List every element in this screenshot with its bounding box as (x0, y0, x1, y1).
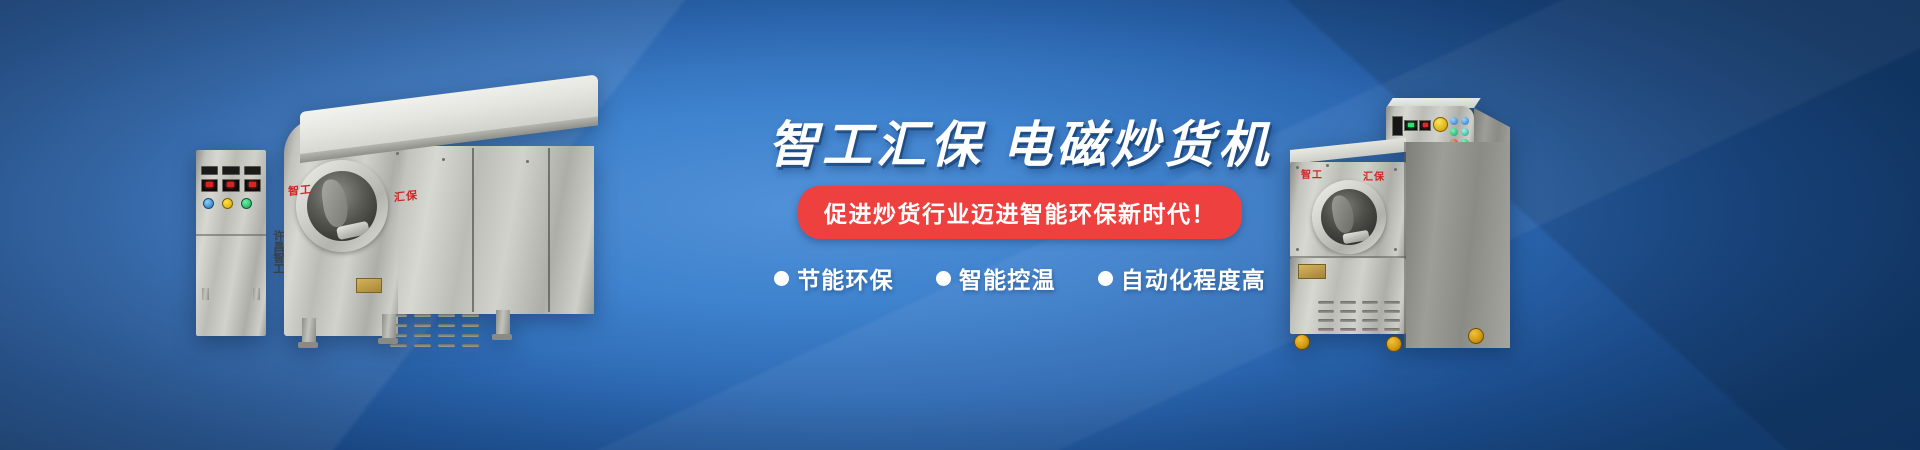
machine-foot (298, 342, 318, 348)
mode-button-icon (1461, 117, 1469, 125)
panel-seam (196, 234, 266, 236)
machine-foot (378, 338, 398, 344)
cabinet-leg (253, 288, 260, 300)
emergency-stop-icon (1433, 117, 1448, 132)
start-button-icon (1450, 128, 1458, 136)
feature-label: 自动化程度高 (1121, 261, 1266, 295)
indicator-lamp-icon (222, 166, 239, 175)
left-control-cabinet (196, 150, 266, 336)
left-cabinet-legs (202, 288, 260, 300)
feature-list: 节能环保 智能控温 自动化程度高 (700, 261, 1340, 295)
machine-leg (382, 314, 396, 340)
speed-display-icon (244, 179, 261, 192)
timer-display-icon (222, 179, 239, 192)
left-spec-plate (356, 278, 382, 293)
feature-item-energy-saving: 节能环保 (774, 261, 894, 295)
left-indicator-row (201, 166, 261, 175)
banner-copy-block: 智工汇保 电磁炒货机 促进炒货行业迈进智能环保新时代！ 节能环保 智能控温 自动… (700, 118, 1340, 295)
machine-foot (492, 334, 512, 340)
bullet-dot-icon (774, 271, 789, 286)
indicator-lamp-icon (244, 166, 261, 175)
left-button-row (201, 198, 261, 209)
left-main-body (386, 146, 594, 314)
left-control-panel (201, 166, 261, 220)
body-door-seam (472, 148, 474, 312)
right-control-panel (1392, 114, 1470, 140)
power-button-icon (203, 198, 214, 209)
left-vent-grille (390, 310, 486, 356)
machine-leg (496, 310, 510, 336)
left-drum-port-ring (296, 160, 388, 252)
temperature-display-icon (1404, 120, 1418, 131)
caster-wheel (1294, 334, 1310, 350)
bullet-dot-icon (936, 271, 951, 286)
ammeter-icon (1392, 116, 1403, 136)
banner-ribbon-tagline: 促进炒货行业迈进智能环保新时代！ (798, 186, 1242, 239)
feature-item-automation: 自动化程度高 (1098, 261, 1266, 295)
banner-headline: 智工汇保 电磁炒货机 (700, 118, 1340, 172)
caster-wheel (1386, 336, 1402, 352)
bullet-dot-icon (1098, 271, 1113, 286)
left-display-row (201, 179, 261, 192)
emergency-stop-icon (222, 198, 233, 209)
banner-ribbon-wrap: 促进炒货行业迈进智能环保新时代！ (700, 186, 1340, 239)
cabinet-leg (202, 288, 209, 300)
product-image-left-roaster: 许昌智工 智工 汇保 (196, 102, 600, 352)
heat-button-icon (1461, 128, 1469, 136)
indicator-lamp-icon (201, 166, 218, 175)
timer-display-icon (1419, 120, 1431, 131)
left-brand-mark-b: 汇保 (394, 187, 418, 206)
feature-label: 智能控温 (959, 261, 1056, 295)
right-vent-grille (1318, 298, 1402, 338)
left-drum-interior (307, 171, 377, 241)
left-brand-mark-a: 智工 (288, 181, 312, 200)
feature-label: 节能环保 (797, 261, 894, 295)
start-button-icon (241, 198, 252, 209)
left-side-vertical-text: 许昌智工 (270, 230, 284, 274)
temperature-display-icon (201, 179, 218, 192)
promo-banner: 许昌智工 智工 汇保 (0, 0, 1920, 450)
drum-paddle (320, 178, 350, 229)
right-brand-mark-b: 汇保 (1363, 168, 1385, 183)
right-side-panel (1406, 142, 1510, 348)
machine-leg (302, 318, 316, 344)
caster-wheel (1468, 328, 1484, 344)
corner-seam (1404, 142, 1406, 348)
feature-item-smart-temperature: 智能控温 (936, 261, 1056, 295)
body-door-seam (548, 148, 550, 312)
power-button-icon (1450, 117, 1458, 125)
